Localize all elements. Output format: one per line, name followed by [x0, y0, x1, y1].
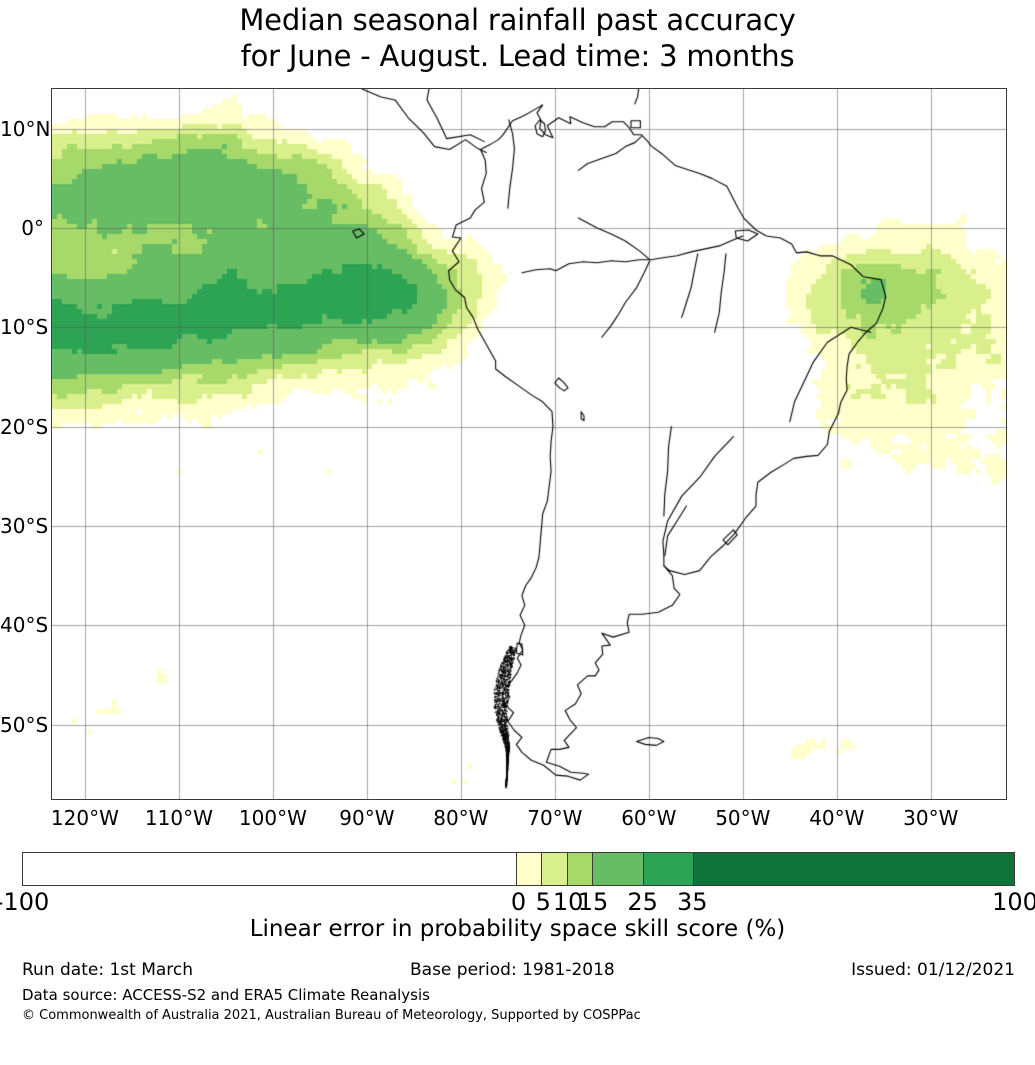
title-line-1: Median seasonal rainfall past accuracy: [0, 0, 1035, 38]
x-axis-tick-2: 100°W: [239, 806, 307, 830]
colorbar-segment-1: [516, 853, 542, 885]
x-axis-tick-7: 50°W: [715, 806, 770, 830]
copyright-text: © Commonwealth of Australia 2021, Austra…: [22, 1008, 641, 1023]
colorbar: [22, 852, 1015, 886]
rainfall-accuracy-map: [51, 88, 1007, 800]
x-axis-tick-8: 40°W: [809, 806, 864, 830]
x-axis-tick-9: 30°W: [903, 806, 958, 830]
x-axis-tick-5: 70°W: [527, 806, 582, 830]
colorbar-segment-0: [23, 853, 516, 885]
y-axis-tick-5: 40°S: [0, 613, 44, 637]
y-axis-tick-0: 10°N: [0, 117, 44, 141]
x-axis-tick-0: 120°W: [51, 806, 119, 830]
colorbar-tick-5: 25: [627, 888, 658, 916]
colorbar-segment-6: [693, 853, 1014, 885]
colorbar-segment-5: [643, 853, 693, 885]
colorbar-gradient: [22, 852, 1015, 886]
x-axis-tick-1: 110°W: [145, 806, 213, 830]
colorbar-segment-4: [592, 853, 642, 885]
colorbar-tick-0: -100: [0, 888, 49, 916]
data-source-text: Data source: ACCESS-S2 and ERA5 Climate …: [22, 986, 430, 1004]
colorbar-tick-6: 35: [677, 888, 708, 916]
x-axis-tick-4: 80°W: [433, 806, 488, 830]
x-axis-tick-6: 60°W: [621, 806, 676, 830]
colorbar-tick-4: 15: [578, 888, 609, 916]
colorbar-tick-7: 100: [992, 888, 1035, 916]
run-date-text: Run date: 1st March: [22, 960, 193, 980]
y-axis-tick-2: 10°S: [0, 315, 44, 339]
issued-date-text: Issued: 01/12/2021: [851, 960, 1015, 980]
colorbar-segment-2: [541, 853, 567, 885]
colorbar-segment-3: [567, 853, 593, 885]
map-heatmap-canvas: [52, 89, 1006, 799]
title-line-2: for June - August. Lead time: 3 months: [0, 38, 1035, 74]
y-axis-tick-1: 0°: [0, 216, 44, 240]
base-period-text: Base period: 1981-2018: [410, 960, 615, 980]
footer: Run date: 1st March Base period: 1981-20…: [0, 960, 1035, 1030]
chart-title: Median seasonal rainfall past accuracy f…: [0, 0, 1035, 74]
y-axis-tick-6: 50°S: [0, 713, 44, 737]
y-axis-tick-3: 20°S: [0, 415, 44, 439]
colorbar-tick-2: 5: [536, 888, 551, 916]
colorbar-title: Linear error in probability space skill …: [0, 916, 1035, 942]
y-axis-tick-4: 30°S: [0, 514, 44, 538]
colorbar-tick-1: 0: [511, 888, 526, 916]
x-axis-tick-3: 90°W: [339, 806, 394, 830]
